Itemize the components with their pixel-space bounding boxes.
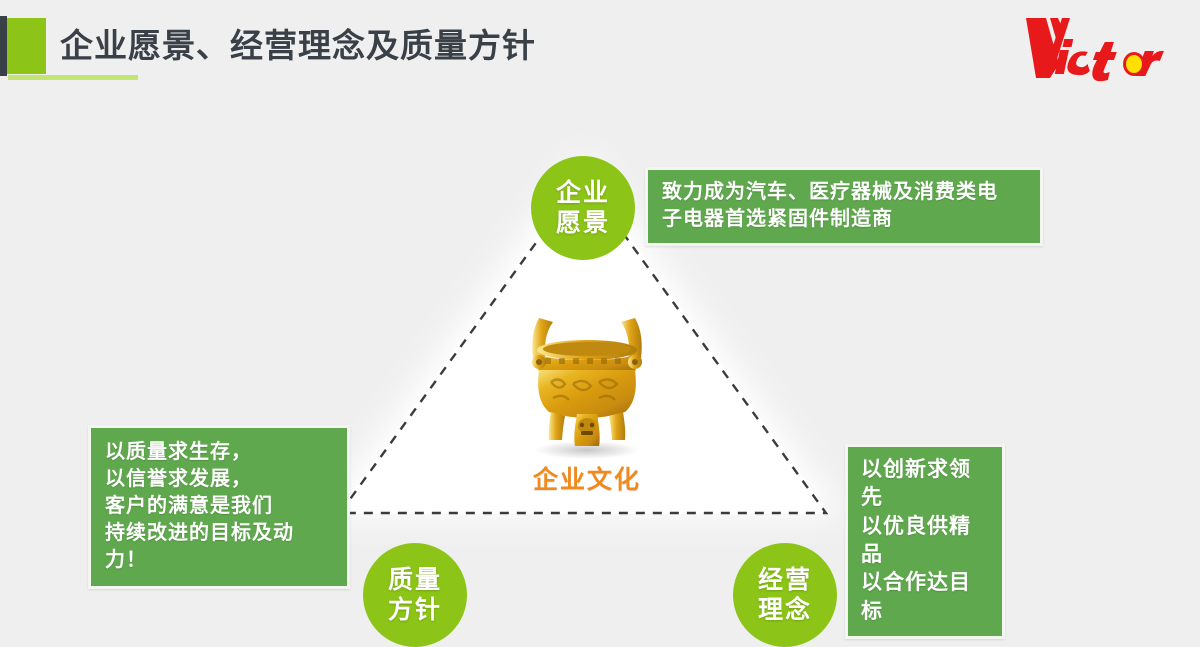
caption-line: 客户的满意是我们 xyxy=(105,493,333,520)
node-circle-vision-line1: 企业 xyxy=(556,178,610,209)
page-title: 企业愿景、经营理念及质量方针 xyxy=(60,18,536,74)
caption-line: 以质量求生存， xyxy=(105,439,333,466)
node-circle-business[interactable]: 经营 理念 xyxy=(733,543,837,647)
caption-line: 以信誉求发展， xyxy=(105,466,333,493)
header-underline xyxy=(8,75,138,80)
caption-box-business: 以创新求领先 以优良供精品 以合作达目标 xyxy=(845,444,1005,639)
page-header: 企业愿景、经营理念及质量方针 xyxy=(0,0,1200,92)
victor-logo-icon xyxy=(1012,12,1182,84)
caption-box-vision: 致力成为汽车、医疗器械及消费类电 子电器首选紧固件制造商 xyxy=(645,167,1043,246)
culture-label: 企业文化 xyxy=(487,460,687,496)
node-circle-vision-line2: 愿景 xyxy=(556,208,610,239)
header-accent-bar xyxy=(0,16,7,76)
node-circle-vision[interactable]: 企业 愿景 xyxy=(531,156,635,260)
caption-line: 以优良供精品 xyxy=(861,513,991,570)
node-circle-business-line1: 经营 xyxy=(758,565,812,596)
diagram-stage: 企业文化 企业 愿景 致力成为汽车、医疗器械及消费类电 子电器首选紧固件制造商 … xyxy=(0,92,1200,644)
caption-box-quality: 以质量求生存， 以信誉求发展， 客户的满意是我们 持续改进的目标及动力！ xyxy=(88,425,350,589)
caption-line: 子电器首选紧固件制造商 xyxy=(662,206,1026,233)
node-circle-quality-line1: 质量 xyxy=(388,565,442,596)
victor-logo xyxy=(1012,12,1182,84)
caption-line: 致力成为汽车、医疗器械及消费类电 xyxy=(662,179,1026,206)
node-circle-quality[interactable]: 质量 方针 xyxy=(363,543,467,647)
node-circle-business-line2: 理念 xyxy=(758,595,812,626)
golden-ding-icon xyxy=(487,300,687,460)
caption-line: 以创新求领先 xyxy=(861,456,991,513)
caption-line: 以合作达目标 xyxy=(861,569,991,626)
caption-line: 持续改进的目标及动力！ xyxy=(105,520,333,574)
node-circle-quality-line2: 方针 xyxy=(388,595,442,626)
ding-svg xyxy=(487,300,687,460)
